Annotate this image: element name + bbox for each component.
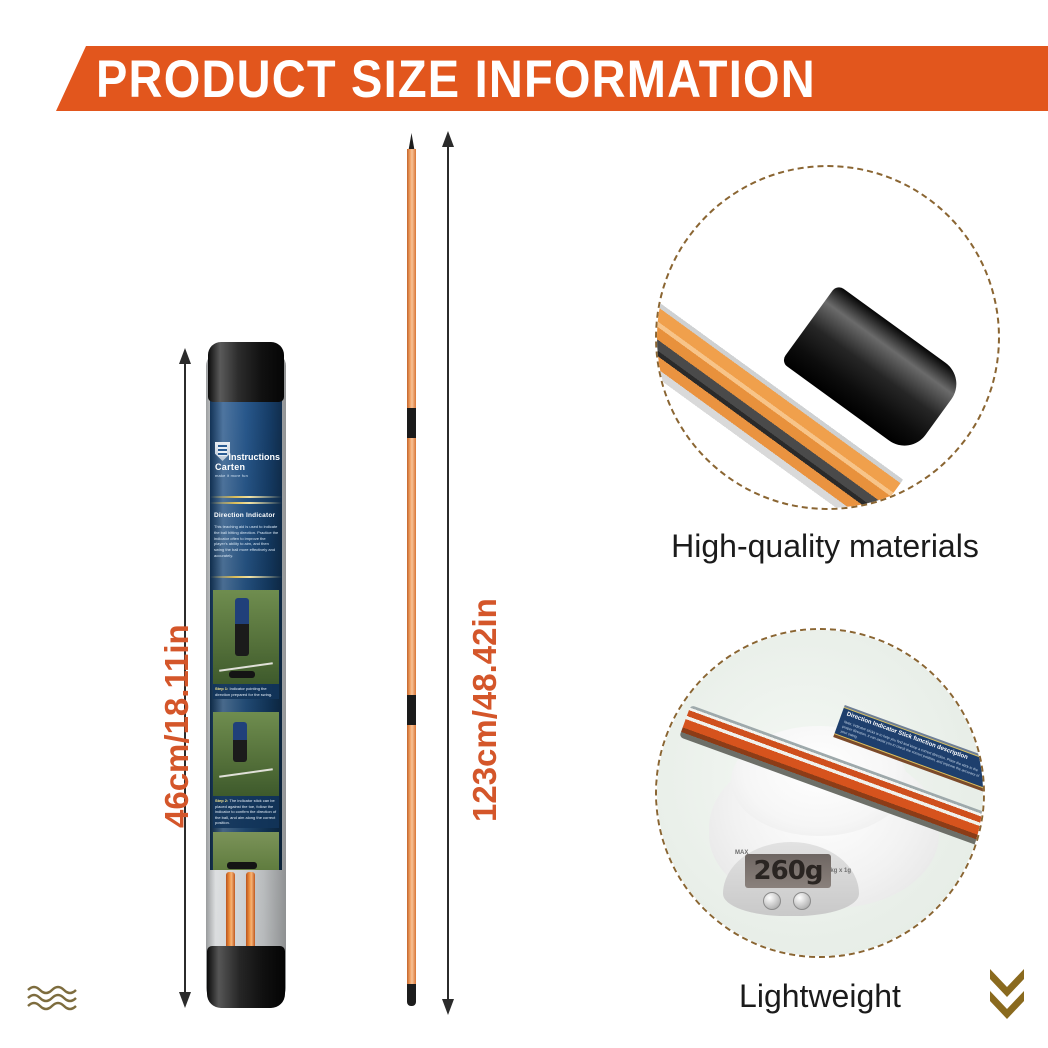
chevron-down-double-icon	[986, 963, 1028, 1023]
step-one-label: Step 1:	[215, 686, 228, 691]
product-size-information-page: PRODUCT SIZE INFORMATION 46cm/18.11in Ca…	[0, 0, 1048, 1048]
sleeve-photo-1	[213, 590, 279, 684]
dimension-line-stick	[447, 143, 449, 999]
step-two-label: Step 2:	[215, 798, 228, 803]
inset-lightweight: MAX 5kg x 1g 260g Direction Indicator St…	[655, 628, 985, 958]
inset-top-caption: High-quality materials	[605, 528, 1045, 565]
product-tube: Carten make it more fun Instructions Dir…	[206, 352, 286, 1002]
scale-button-unit[interactable]	[793, 892, 811, 910]
dimension-arrow-down-stick	[442, 999, 454, 1015]
stick-shaft	[407, 149, 416, 994]
tube-length-label: 46cm/18.11in	[158, 624, 196, 828]
tube-cap-top	[208, 342, 284, 402]
inset-bottom-caption: Lightweight	[660, 978, 980, 1015]
sleeve-paragraph: This teaching aid is used to indicate th…	[214, 524, 280, 559]
sleeve-heading: Direction Indicator	[214, 512, 280, 519]
tube-cap-bottom	[207, 946, 285, 1008]
stick-length-label: 123cm/48.42in	[466, 598, 504, 822]
golfer-figure-2	[233, 722, 247, 762]
sleeve-rule-top	[210, 496, 282, 498]
brand-tagline: make it more fun	[215, 473, 277, 478]
stick-band-upper	[407, 408, 416, 438]
wave-lines-svg	[26, 982, 82, 1014]
scale-lcd-display: 260g	[745, 854, 831, 888]
brand-block: Carten make it more fun	[215, 442, 277, 482]
page-title: PRODUCT SIZE INFORMATION	[96, 48, 816, 110]
golfer-shoe-3	[227, 862, 257, 869]
inset-top-artwork	[657, 167, 998, 508]
golfer-figure	[235, 598, 249, 656]
alignment-stick	[405, 133, 419, 1006]
brand-name: Carten	[215, 462, 277, 472]
wave-lines-icon	[26, 982, 82, 1014]
inset-high-quality-materials	[655, 165, 1000, 510]
sleeve-rule-top-2	[210, 502, 282, 504]
header-banner: PRODUCT SIZE INFORMATION	[56, 46, 1048, 111]
dimension-arrow-down-tube	[179, 992, 191, 1008]
sleeve-rule-mid	[210, 576, 282, 578]
sleeve-instructions-word: Instructions	[228, 452, 280, 462]
sleeve-photo-2	[213, 712, 279, 796]
inset-bottom-artwork: MAX 5kg x 1g 260g Direction Indicator St…	[657, 630, 983, 956]
golfer-shoe	[229, 671, 255, 678]
scale-reading: 260g	[754, 856, 823, 886]
alignment-stick-photo-2	[219, 768, 273, 777]
tube-printed-sleeve: Carten make it more fun Instructions Dir…	[210, 400, 282, 870]
sleeve-photo-3	[213, 832, 279, 870]
sleeve-caption-1: Step 1: Indicator pointing the direction…	[213, 684, 279, 699]
scale-button-tare[interactable]	[763, 892, 781, 910]
chevron-down-double-svg	[986, 963, 1028, 1023]
stick-tip-bottom	[407, 984, 416, 1006]
sleeve-caption-2: Step 2: The indicator stick can be place…	[213, 796, 279, 828]
stick-band-lower	[407, 695, 416, 725]
